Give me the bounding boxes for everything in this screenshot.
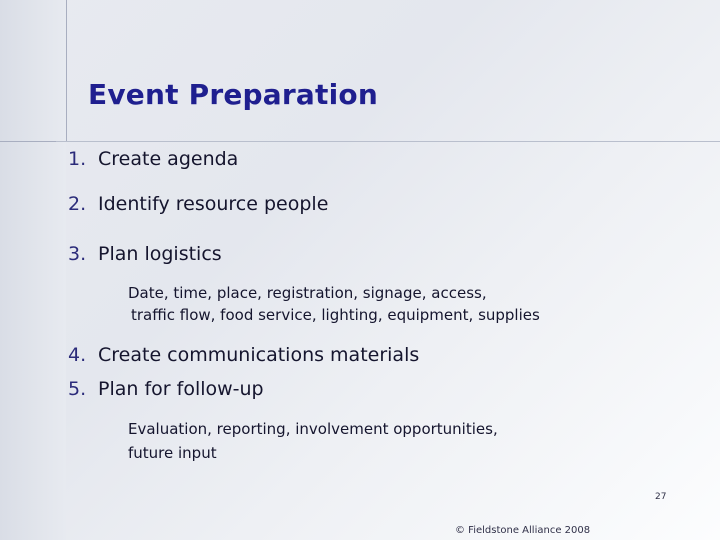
content-list: 1. Create agenda 2. Identify resource pe… [68,144,720,462]
list-item-label: Create agenda [98,148,238,170]
list-item: 1. Create agenda [68,148,720,170]
page-title: Event Preparation [88,78,378,111]
list-item: 3. Plan logistics [68,243,720,265]
list-item-number: 5. [68,378,98,400]
horizontal-rule-left [0,141,56,142]
list-item-subline: Date, time, place, registration, signage… [128,284,720,302]
page-number: 27 [655,492,666,502]
vertical-rule [66,0,67,142]
list-item-label: Identify resource people [98,193,328,215]
list-item-subline: future input [128,444,720,462]
slide: Event Preparation 1. Create agenda 2. Id… [0,0,720,540]
list-item-number: 4. [68,344,98,366]
list-item-number: 2. [68,193,98,215]
list-item: 5. Plan for follow-up [68,378,720,400]
horizontal-rule [56,141,720,142]
list-item-label: Plan logistics [98,243,222,265]
list-item-number: 3. [68,243,98,265]
copyright-notice: © Fieldstone Alliance 2008 [455,525,590,536]
list-item-number: 1. [68,148,98,170]
list-item: 4. Create communications materials [68,344,720,366]
list-item-subline: Evaluation, reporting, involvement oppor… [128,420,720,438]
list-item-label: Create communications materials [98,344,419,366]
list-item: 2. Identify resource people [68,193,720,215]
left-decorative-band [0,0,66,540]
list-item-subline: traffic flow, food service, lighting, eq… [131,306,720,324]
list-item-label: Plan for follow-up [98,378,264,400]
